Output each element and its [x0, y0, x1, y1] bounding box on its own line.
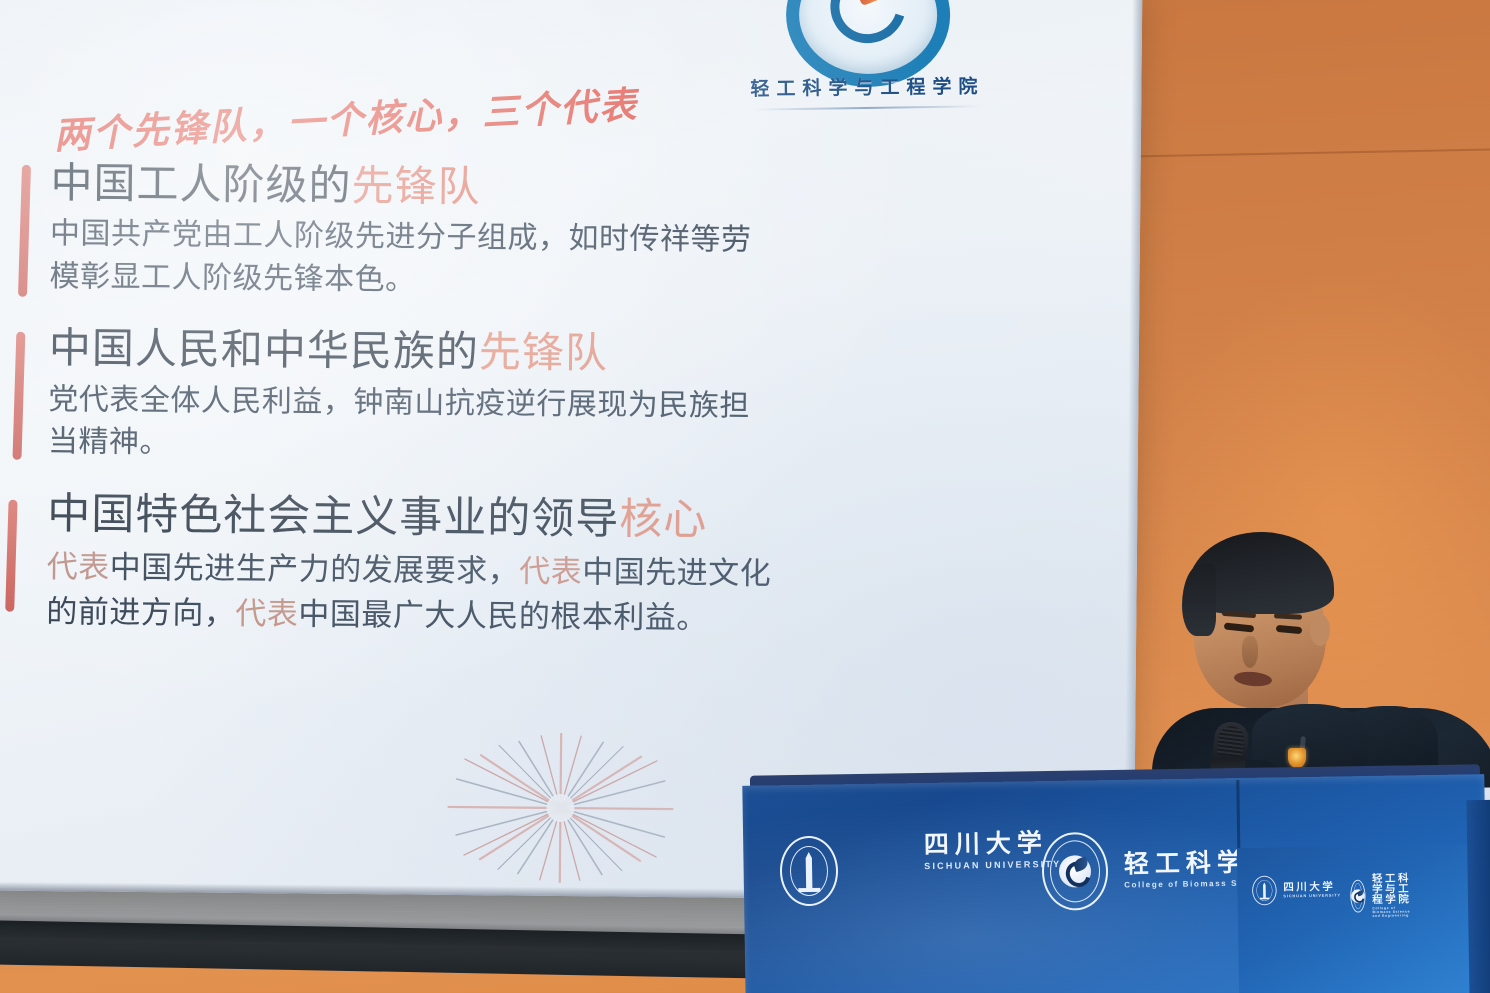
bullet-2-heading-highlight: 先锋队 [479, 329, 608, 377]
bullet-3-body-line-2: 的前进方向，代表中国最广大人民的根本利益。 [46, 590, 982, 644]
presenter-collar [1252, 704, 1368, 768]
bullet-3-heading: 中国特色社会主义事业的领导核心 [47, 490, 983, 548]
slide-bullet-list: 中国工人阶级的先锋队 中国共产党由工人阶级先进分子组成，如时传祥等劳 模彰显工人… [2, 159, 987, 671]
bullet-3-text-4: 中国最广大人民的根本利益。 [298, 597, 708, 636]
bullet-1-heading: 中国工人阶级的先锋队 [50, 159, 986, 216]
college-biomass-seal-icon [1350, 879, 1366, 912]
party-emblem-pin-icon [1288, 748, 1306, 768]
sichuan-university-seal-icon [1252, 876, 1277, 906]
bullet-1-heading-plain: 中国工人阶级的 [50, 159, 351, 209]
slide-bullet-3: 中国特色社会主义事业的领导核心 代表中国先进生产力的发展要求，代表中国先进文化 … [2, 490, 983, 645]
bullet-3-text-2: 中国先进文化 [582, 555, 771, 592]
firework-burst-icon [420, 725, 702, 898]
bullet-3-body: 代表中国先进生产力的发展要求，代表中国先进文化 的前进方向，代表中国最广大人民的… [46, 545, 983, 644]
bullet-1-body: 中国共产党由工人阶级先进分子组成，如时传祥等劳 模彰显工人阶级先锋本色。 [49, 213, 986, 307]
podium-right-logo-scu-en: SICHUAN UNIVERSITY [1283, 893, 1341, 898]
presenter-sideburn [1182, 564, 1216, 636]
podium-right-panel [1237, 844, 1490, 993]
slide-org-logo: 轻工科学与工程学院 [742, 0, 993, 104]
accent-bar [18, 165, 31, 297]
slide-bullet-2: 中国人民和中华民族的先锋队 党代表全体人民利益，钟南山抗疫逆行展现为民族担 当精… [4, 324, 985, 473]
projection-screen: 轻工科学与工程学院 两个先锋队，一个核心，三个代表 中国工人阶级的先锋队 中国共… [0, 0, 1142, 902]
bullet-3-highlight-1: 代表 [47, 549, 110, 585]
bullet-3-text-3: 的前进方向， [46, 594, 235, 631]
bullet-3-heading-plain: 中国特色社会主义事业的领导 [47, 490, 619, 543]
accent-bar [5, 500, 17, 612]
bullet-2-heading: 中国人民和中华民族的先锋队 [49, 325, 985, 382]
sichuan-university-seal-icon [779, 836, 838, 907]
presentation-slide: 轻工科学与工程学院 两个先锋队，一个核心，三个代表 中国工人阶级的先锋队 中国共… [0, 0, 1142, 902]
college-seal-icon [793, 0, 944, 62]
bullet-3-highlight-2: 代表 [519, 554, 582, 590]
accent-bar [12, 332, 25, 460]
podium-right-logo-scu-cn: 四川大学 [1283, 881, 1341, 892]
presenter-ear [1310, 614, 1330, 646]
bullet-1-body-line-2: 模彰显工人阶级先锋本色。 [49, 256, 985, 308]
college-biomass-seal-icon [1041, 832, 1108, 911]
bullet-2-body-line-2: 当精神。 [48, 421, 984, 473]
bullet-3-highlight-3: 代表 [235, 596, 298, 632]
slide-bullet-1: 中国工人阶级的先锋队 中国共产党由工人阶级先进分子组成，如时传祥等劳 模彰显工人… [5, 159, 986, 308]
podium-logo-sichuan-university [779, 836, 838, 907]
slide-title: 两个先锋队，一个核心，三个代表 [52, 74, 639, 159]
bullet-1-heading-highlight: 先锋队 [351, 162, 480, 210]
podium-right-logo-college-en: College of Biomass Science and Engineeri… [1372, 906, 1412, 918]
podium-right-side [1466, 800, 1490, 993]
slide-org-logo-name: 轻工科学与工程学院 [742, 71, 992, 101]
slide-org-logo-rule [752, 105, 982, 110]
bullet-3-heading-highlight: 核心 [619, 496, 707, 545]
podium-right-logo-college-cn: 轻工科学与工程学院 [1372, 873, 1412, 905]
bullet-3-text-1: 中国先进生产力的发展要求， [110, 550, 520, 589]
podium-right-logo-college: 轻工科学与工程学院 College of Biomass Science and… [1350, 873, 1412, 918]
bullet-2-body: 党代表全体人民利益，钟南山抗疫逆行展现为民族担 当精神。 [48, 379, 985, 473]
bullet-2-heading-plain: 中国人民和中华民族的 [49, 325, 479, 376]
presenter-nose [1242, 636, 1258, 668]
podium-right-logo-sichuan-university: 四川大学 SICHUAN UNIVERSITY [1252, 875, 1341, 906]
lecture-hall-scene: 轻工科学与工程学院 两个先锋队，一个核心，三个代表 中国工人阶级的先锋队 中国共… [0, 0, 1490, 993]
